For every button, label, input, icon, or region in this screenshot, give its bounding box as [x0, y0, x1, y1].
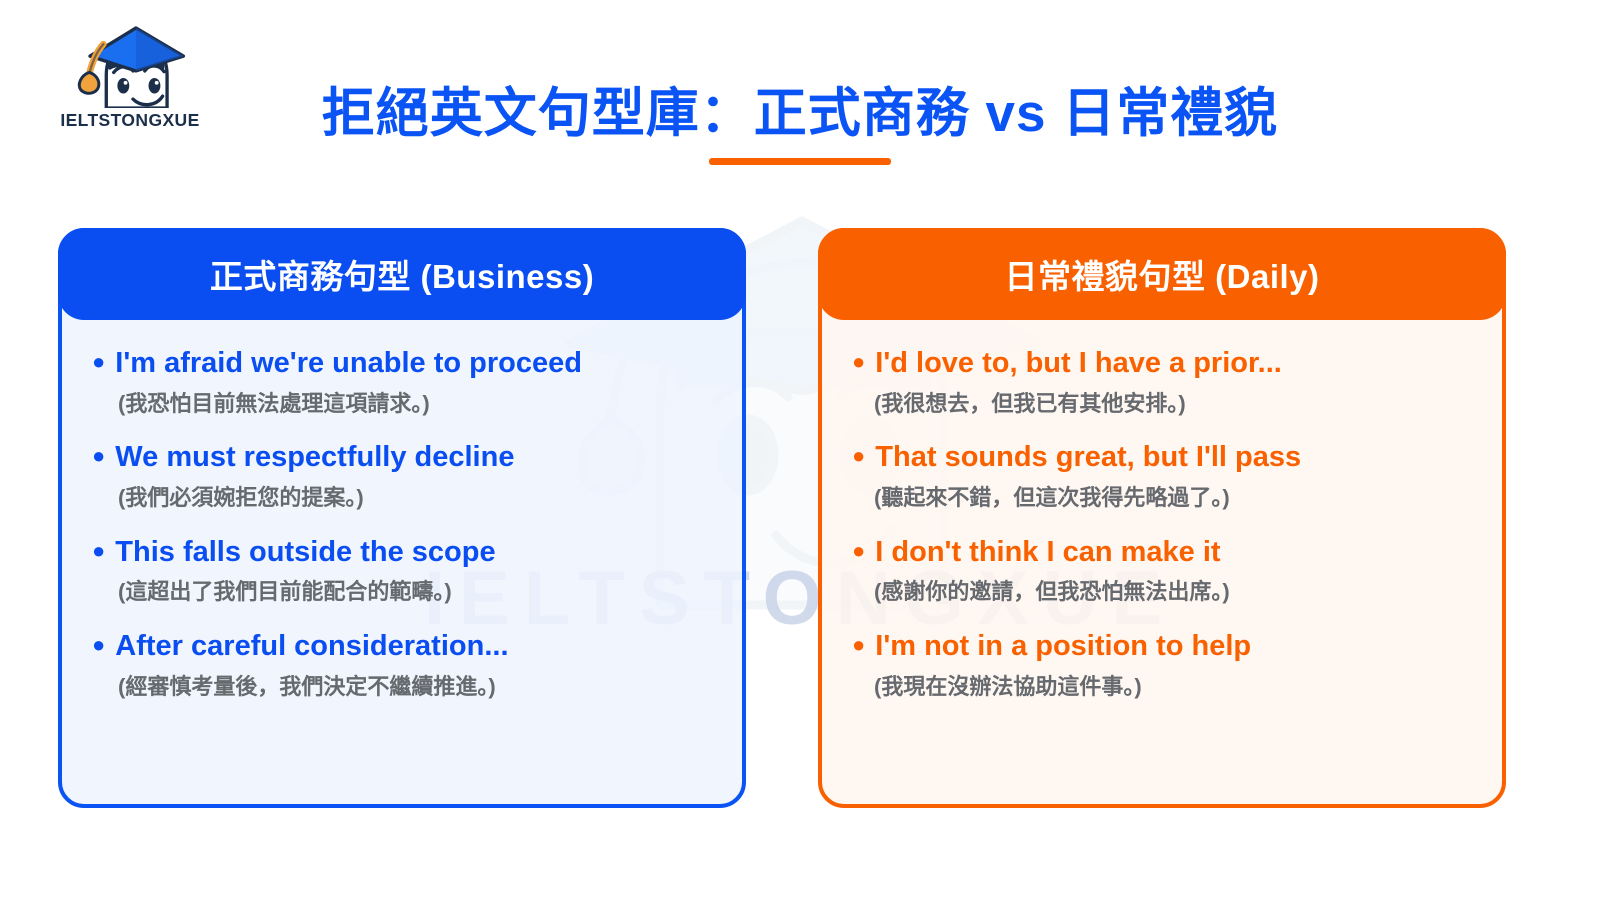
- phrase-english-row: ● This falls outside the scope: [92, 535, 712, 570]
- phrase-english: I'm afraid we're unable to proceed: [115, 346, 582, 381]
- bullet-icon: ●: [92, 445, 105, 467]
- phrase-english: We must respectfully decline: [115, 440, 514, 475]
- list-item: ● I don't think I can make it (感謝你的邀請，但我…: [852, 535, 1472, 606]
- phrase-english: I'd love to, but I have a prior...: [875, 346, 1282, 381]
- phrase-translation: (聽起來不錯，但這次我得先略過了。): [874, 484, 1472, 512]
- bullet-icon: ●: [92, 351, 105, 373]
- phrase-translation: (我很想去，但我已有其他安排。): [874, 390, 1472, 418]
- card-business-body: ● I'm afraid we're unable to proceed (我恐…: [62, 324, 742, 804]
- phrase-english: I don't think I can make it: [875, 535, 1220, 570]
- card-business: 正式商務句型 (Business) ● I'm afraid we're una…: [58, 228, 746, 808]
- card-business-title: 正式商務句型 (Business): [210, 250, 594, 298]
- phrase-translation: (我恐怕目前無法處理這項請求。): [118, 390, 712, 418]
- card-daily-body: ● I'd love to, but I have a prior... (我很…: [822, 324, 1502, 804]
- phrase-english: That sounds great, but I'll pass: [875, 440, 1301, 475]
- phrase-translation: (我現在沒辦法協助這件事。): [874, 673, 1472, 701]
- phrase-english-row: ● After careful consideration...: [92, 629, 712, 664]
- card-business-header: 正式商務句型 (Business): [58, 228, 746, 320]
- list-item: ● I'm not in a position to help (我現在沒辦法協…: [852, 629, 1472, 700]
- list-item: ● I'm afraid we're unable to proceed (我恐…: [92, 346, 712, 417]
- phrase-english: After careful consideration...: [115, 629, 508, 664]
- brand-logo: IELTSTONGXUE: [60, 22, 200, 131]
- page-title: 拒絕英文句型庫：正式商務 vs 日常禮貌: [240, 86, 1360, 142]
- phrase-english-row: ● I'd love to, but I have a prior...: [852, 346, 1472, 381]
- phrase-english: This falls outside the scope: [115, 535, 495, 570]
- list-item: ● That sounds great, but I'll pass (聽起來不…: [852, 440, 1472, 511]
- phrase-english-row: ● We must respectfully decline: [92, 440, 712, 475]
- card-daily-title: 日常禮貌句型 (Daily): [1004, 250, 1319, 298]
- list-item: ● I'd love to, but I have a prior... (我很…: [852, 346, 1472, 417]
- card-daily: 日常禮貌句型 (Daily) ● I'd love to, but I have…: [818, 228, 1506, 808]
- phrase-english-row: ● I'm not in a position to help: [852, 629, 1472, 664]
- phrase-english-row: ● I'm afraid we're unable to proceed: [92, 346, 712, 381]
- bullet-icon: ●: [92, 634, 105, 656]
- brand-logo-text: IELTSTONGXUE: [60, 110, 200, 131]
- card-daily-header: 日常禮貌句型 (Daily): [818, 228, 1506, 320]
- bullet-icon: ●: [852, 445, 865, 467]
- list-item: ● After careful consideration... (經審慎考量後…: [92, 629, 712, 700]
- page-title-wrap: 拒絕英文句型庫：正式商務 vs 日常禮貌: [240, 86, 1360, 165]
- phrase-translation: (我們必須婉拒您的提案。): [118, 484, 712, 512]
- graduation-cap-face-icon: [70, 22, 190, 108]
- bullet-icon: ●: [852, 634, 865, 656]
- phrase-translation: (經審慎考量後，我們決定不繼續推進。): [118, 673, 712, 701]
- phrase-english-row: ● I don't think I can make it: [852, 535, 1472, 570]
- phrase-english: I'm not in a position to help: [875, 629, 1251, 664]
- title-underline: [709, 158, 891, 165]
- phrase-translation: (感謝你的邀請，但我恐怕無法出席。): [874, 578, 1472, 606]
- list-item: ● This falls outside the scope (這超出了我們目前…: [92, 535, 712, 606]
- phrase-english-row: ● That sounds great, but I'll pass: [852, 440, 1472, 475]
- bullet-icon: ●: [92, 540, 105, 562]
- page-header: IELTSTONGXUE 拒絕英文句型庫：正式商務 vs 日常禮貌: [0, 0, 1600, 210]
- bullet-icon: ●: [852, 540, 865, 562]
- list-item: ● We must respectfully decline (我們必須婉拒您的…: [92, 440, 712, 511]
- bullet-icon: ●: [852, 351, 865, 373]
- phrase-translation: (這超出了我們目前能配合的範疇。): [118, 578, 712, 606]
